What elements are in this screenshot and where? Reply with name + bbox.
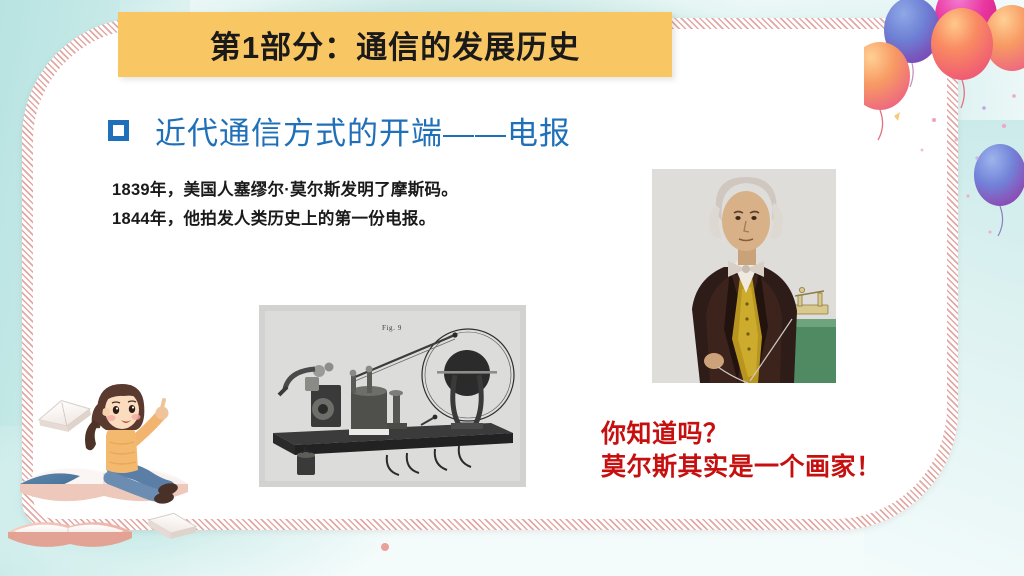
dot-accent (381, 543, 389, 551)
samuel-morse-portrait-image (652, 169, 836, 383)
callout-block: 你知道吗？ 莫尔斯其实是一个画家！ (601, 418, 882, 484)
title-banner: 第1部分：通信的发展历史 (118, 12, 672, 77)
callout-line: 你知道吗？ (601, 418, 882, 451)
telegraph-illustration: Fig. 9 (259, 305, 526, 487)
body-line: 1844年，他拍发人类历史上的第一份电报。 (112, 205, 458, 234)
portrait-illustration (652, 169, 836, 383)
callout-line: 莫尔斯其实是一个画家！ (601, 451, 882, 484)
body-line: 1839年，美国人塞缪尔·莫尔斯发明了摩斯码。 (112, 176, 458, 205)
square-bullet-icon (108, 120, 129, 141)
section-heading: 近代通信方式的开端——电报 (108, 108, 571, 153)
title-text: 第1部分：通信的发展历史 (210, 22, 580, 67)
svg-text:Fig. 9: Fig. 9 (382, 324, 402, 332)
section-heading-text: 近代通信方式的开端——电报 (155, 108, 571, 153)
girl-reading-books-illustration-icon (2, 370, 212, 566)
presentation-slide: 第1部分：通信的发展历史 近代通信方式的开端——电报 1839年，美国人塞缪尔·… (0, 0, 1024, 576)
morse-telegraph-engraving-image: Fig. 9 (259, 305, 526, 487)
body-text-block: 1839年，美国人塞缪尔·莫尔斯发明了摩斯码。 1844年，他拍发人类历史上的第… (112, 176, 458, 234)
